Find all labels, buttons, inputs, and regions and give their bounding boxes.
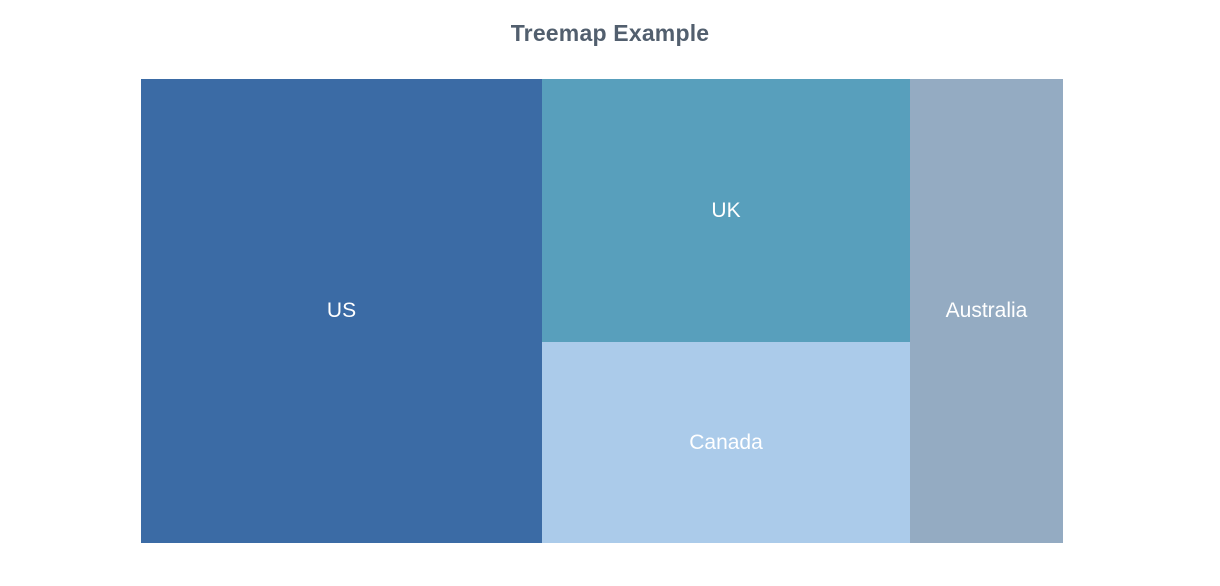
treemap-tile-us[interactable]: US (141, 79, 542, 543)
treemap-tile-label-australia: Australia (946, 299, 1028, 323)
treemap-tile-label-canada: Canada (689, 431, 763, 455)
treemap-tile-australia[interactable]: Australia (910, 79, 1063, 543)
treemap-plot-area: US UK Canada Australia (141, 79, 1063, 543)
treemap-tile-label-uk: UK (711, 199, 740, 223)
chart-title: Treemap Example (0, 18, 1220, 48)
treemap-figure: Treemap Example US UK Canada Australia (0, 0, 1220, 586)
treemap-tile-canada[interactable]: Canada (542, 342, 910, 543)
treemap-tile-uk[interactable]: UK (542, 79, 910, 342)
treemap-tile-label-us: US (327, 299, 356, 323)
